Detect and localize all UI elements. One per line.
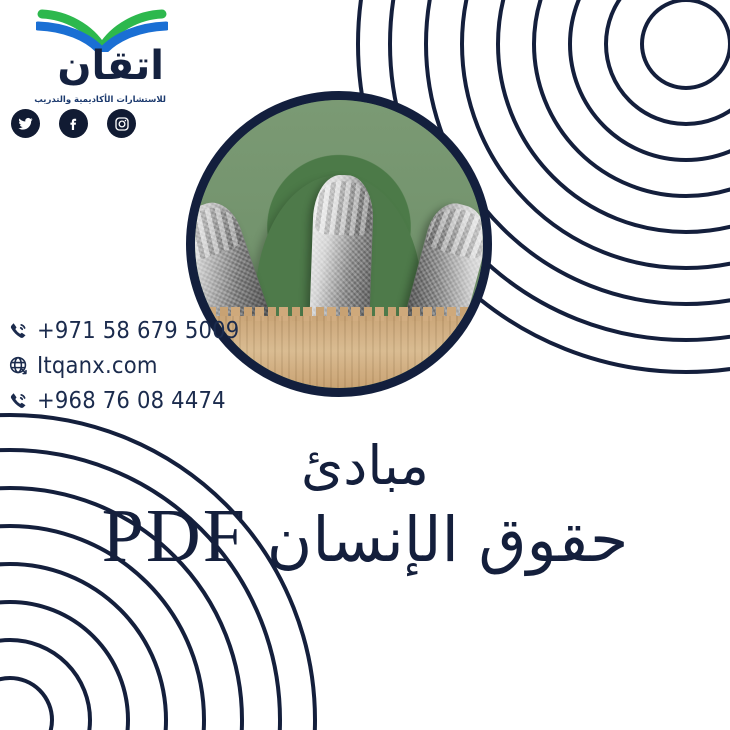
instagram-icon bbox=[114, 116, 130, 132]
contact-row-phone-uae[interactable]: +971 58 679 5009 bbox=[6, 315, 256, 346]
social-link-instagram[interactable] bbox=[107, 109, 136, 138]
contact-value: +971 58 679 5009 bbox=[37, 318, 239, 344]
poster-canvas: اتقان للاستشارات الأكاديمية والتدريب bbox=[0, 0, 730, 730]
brand-wordmark-text: اتقان bbox=[57, 46, 164, 86]
title-line-2-arabic: حقوق الإنسان bbox=[267, 503, 629, 576]
brand-tagline: للاستشارات الأكاديمية والتدريب bbox=[30, 95, 166, 105]
contact-details: +971 58 679 5009 Itqanx.com bbox=[6, 315, 256, 420]
brand-wordmark: اتقان bbox=[28, 48, 168, 94]
twitter-icon bbox=[17, 115, 34, 132]
social-link-facebook[interactable] bbox=[59, 109, 88, 138]
contact-row-phone-oman[interactable]: +968 76 08 4474 bbox=[6, 385, 256, 416]
phone-icon bbox=[6, 319, 30, 343]
social-link-twitter[interactable] bbox=[11, 109, 40, 138]
facebook-icon bbox=[66, 116, 82, 132]
contact-row-website[interactable]: Itqanx.com bbox=[6, 350, 256, 381]
contact-value: +968 76 08 4474 bbox=[37, 388, 226, 414]
title-line-1: مبادئ bbox=[0, 436, 730, 496]
title-line-2-latin: PDF bbox=[102, 494, 247, 578]
title-line-2: حقوق الإنسان PDF bbox=[0, 494, 730, 579]
phone-icon bbox=[6, 389, 30, 413]
contact-value: Itqanx.com bbox=[37, 353, 158, 379]
poster-title: مبادئ حقوق الإنسان PDF bbox=[0, 436, 730, 580]
globe-icon bbox=[6, 354, 30, 378]
brand-logo[interactable]: اتقان للاستشارات الأكاديمية والتدريب bbox=[8, 6, 168, 105]
social-links bbox=[11, 109, 136, 138]
